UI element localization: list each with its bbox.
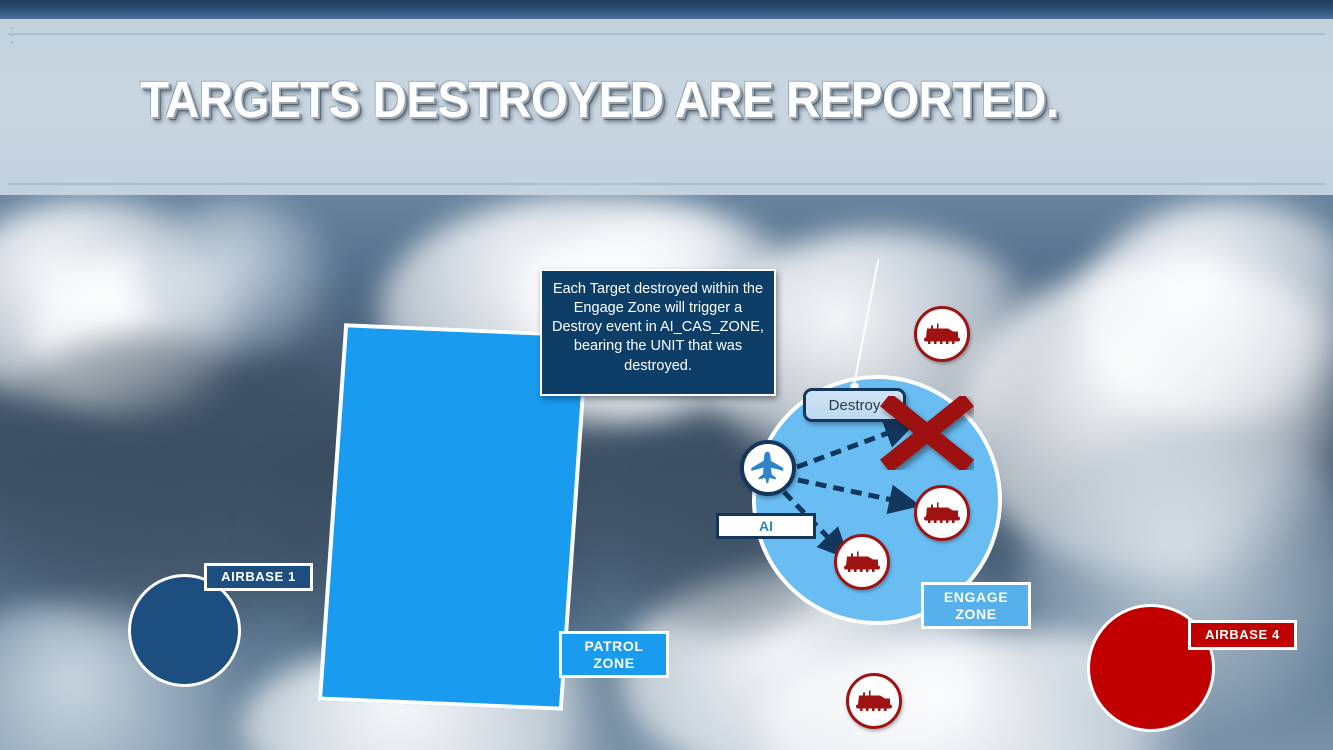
fighter-jet-icon [748, 448, 788, 488]
armored-vehicle-icon [922, 320, 962, 348]
info-text-box: Each Target destroyed within the Engage … [540, 269, 776, 396]
ai-label[interactable]: AI [716, 513, 816, 539]
target-unit-marker[interactable] [834, 534, 890, 590]
title-rule-bottom [8, 183, 1325, 185]
target-unit-marker[interactable] [914, 485, 970, 541]
target-unit-marker[interactable] [846, 673, 902, 729]
armored-vehicle-icon [842, 548, 882, 576]
cloud-shape [140, 200, 340, 360]
target-unit-marker[interactable] [914, 306, 970, 362]
airbase-1-label[interactable]: AIRBASE 1 [204, 563, 313, 591]
ai-unit-marker[interactable] [740, 440, 796, 496]
title-rule-top [8, 33, 1325, 35]
destroy-callout[interactable]: Destroy [803, 388, 906, 422]
top-accent-strip [0, 0, 1333, 19]
patrol-zone-label[interactable]: PATROL ZONE [559, 631, 669, 678]
airbase-4-label[interactable]: AIRBASE 4 [1188, 620, 1297, 650]
engage-zone-label[interactable]: ENGAGE ZONE [921, 582, 1031, 629]
armored-vehicle-icon [922, 499, 962, 527]
title-band-ticks [10, 25, 14, 47]
page-title: TARGETS DESTROYED ARE REPORTED. [140, 74, 1126, 125]
slide-canvas: TARGETS DESTROYED ARE REPORTED. [0, 0, 1333, 750]
armored-vehicle-icon [854, 687, 894, 715]
